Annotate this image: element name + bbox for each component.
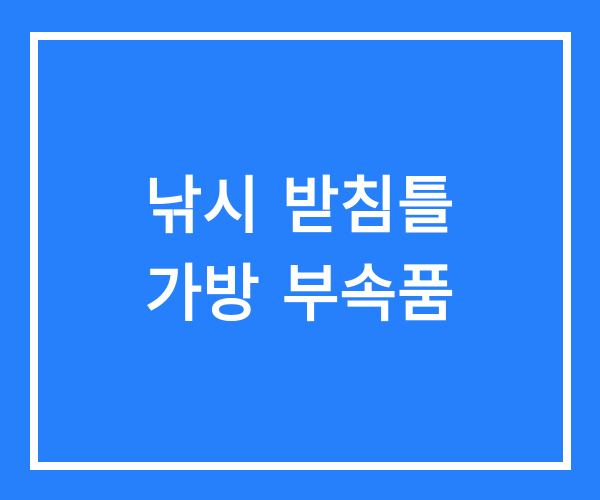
headline-line-2: 가방 부속품: [145, 250, 455, 338]
headline-line-1: 낚시 받침틀: [145, 162, 455, 250]
promo-banner: 낚시 받침틀 가방 부속품: [0, 0, 600, 500]
headline-block: 낚시 받침틀 가방 부속품: [0, 0, 600, 500]
